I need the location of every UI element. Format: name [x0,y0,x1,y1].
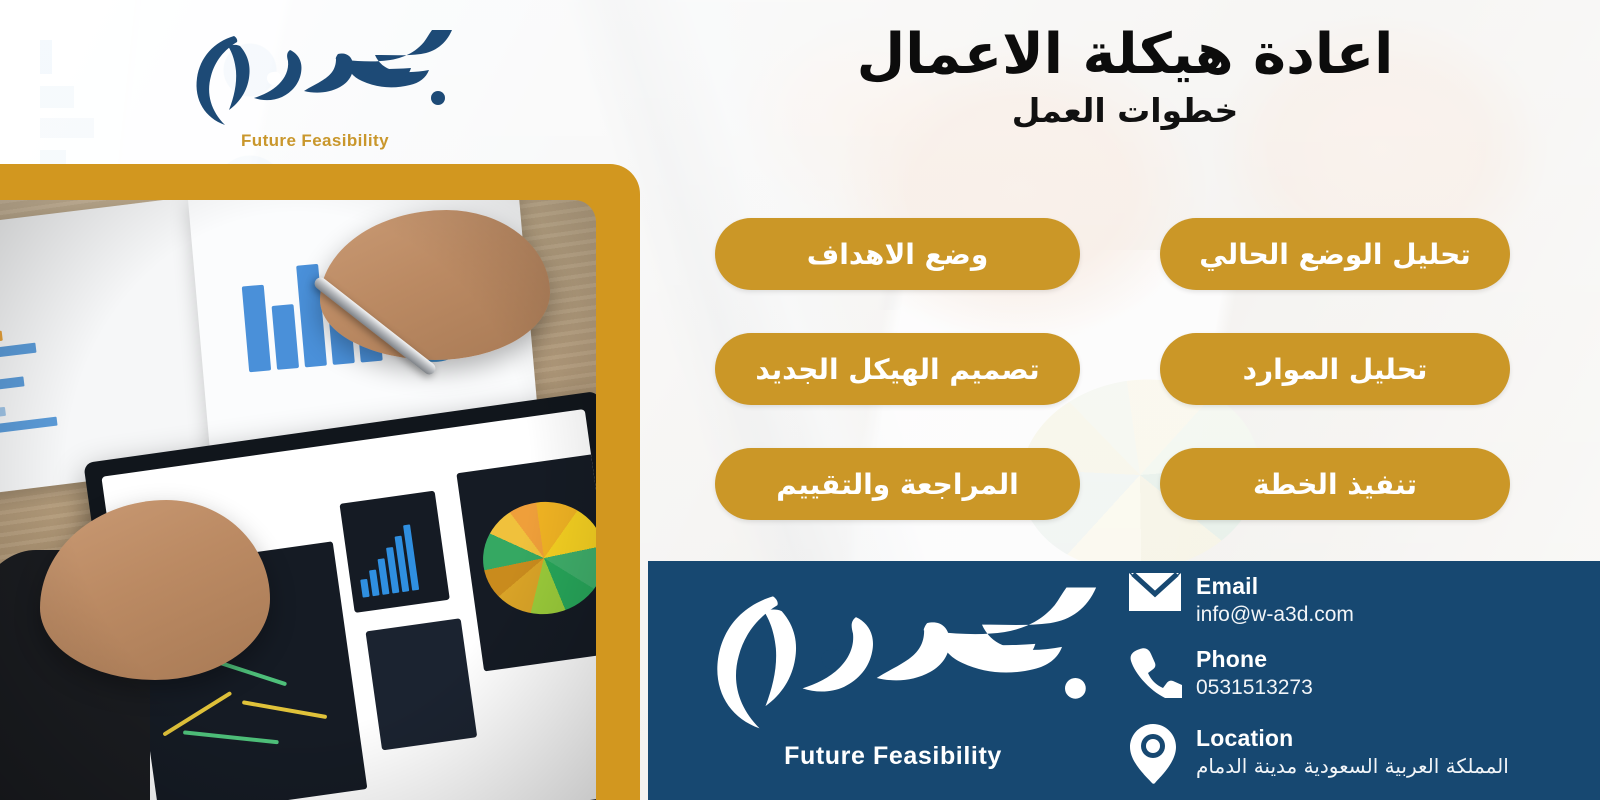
contact-phone-text: Phone 0531513273 [1196,644,1313,702]
contact-item-email[interactable]: Email info@w-a3d.com [1128,571,1588,629]
contact-item-phone[interactable]: Phone 0531513273 [1128,644,1588,702]
page-title: اعادة هيكلة الاعمال [660,24,1590,87]
contact-email-label: Email [1196,573,1354,599]
contact-phone-value[interactable]: 0531513273 [1196,674,1313,701]
contact-bar: Future Feasibility Email info@w-a3d.com [648,561,1600,800]
headings-block: اعادة هيكلة الاعمال خطوات العمل [660,24,1590,130]
steps-row-1: تحليل الوضع الحالي وضع الاهداف [700,218,1510,290]
logo-bottom: Future Feasibility [668,571,1118,786]
contact-item-location[interactable]: Location المملكة العربية السعودية مدينة … [1128,723,1588,781]
step-pill-review-and-evaluate[interactable]: المراجعة والتقييم [715,448,1080,520]
jadwa-wordmark-icon [170,22,460,127]
page-subtitle: خطوات العمل [660,91,1590,131]
logo-top: Future Feasibility [150,22,480,162]
steps-row-2: تحليل الموارد تصميم الهيكل الجديد [700,333,1510,405]
step-pill-analyze-current-situation[interactable]: تحليل الوضع الحالي [1160,218,1510,290]
location-pin-icon [1128,723,1182,781]
contact-location-label: Location [1196,725,1509,751]
contact-email-text: Email info@w-a3d.com [1196,571,1354,629]
logo-bottom-tagline: Future Feasibility [668,742,1118,771]
contact-phone-label: Phone [1196,646,1313,672]
steps-group: تحليل الوضع الحالي وضع الاهداف تحليل الم… [700,218,1510,538]
step-pill-design-new-structure[interactable]: تصميم الهيكل الجديد [715,333,1080,405]
photo-image [0,200,596,800]
envelope-icon [1128,571,1182,629]
jadwa-wordmark-white-icon [678,571,1108,736]
contact-location-text: Location المملكة العربية السعودية مدينة … [1196,723,1509,779]
step-pill-execute-plan[interactable]: تنفيذ الخطة [1160,448,1510,520]
logo-top-tagline: Future Feasibility [150,131,480,151]
contact-email-value[interactable]: info@w-a3d.com [1196,601,1354,628]
phone-icon [1128,644,1182,702]
contact-location-value[interactable]: المملكة العربية السعودية مدينة الدمام [1196,753,1509,779]
photo-card-frame [0,164,640,800]
banner-root: Future Feasibility [0,0,1600,800]
photo-vignette [0,200,596,800]
step-pill-set-goals[interactable]: وضع الاهداف [715,218,1080,290]
step-pill-analyze-resources[interactable]: تحليل الموارد [1160,333,1510,405]
contact-list: Email info@w-a3d.com Phone 0531513273 [1128,565,1588,800]
steps-row-3: تنفيذ الخطة المراجعة والتقييم [700,448,1510,520]
